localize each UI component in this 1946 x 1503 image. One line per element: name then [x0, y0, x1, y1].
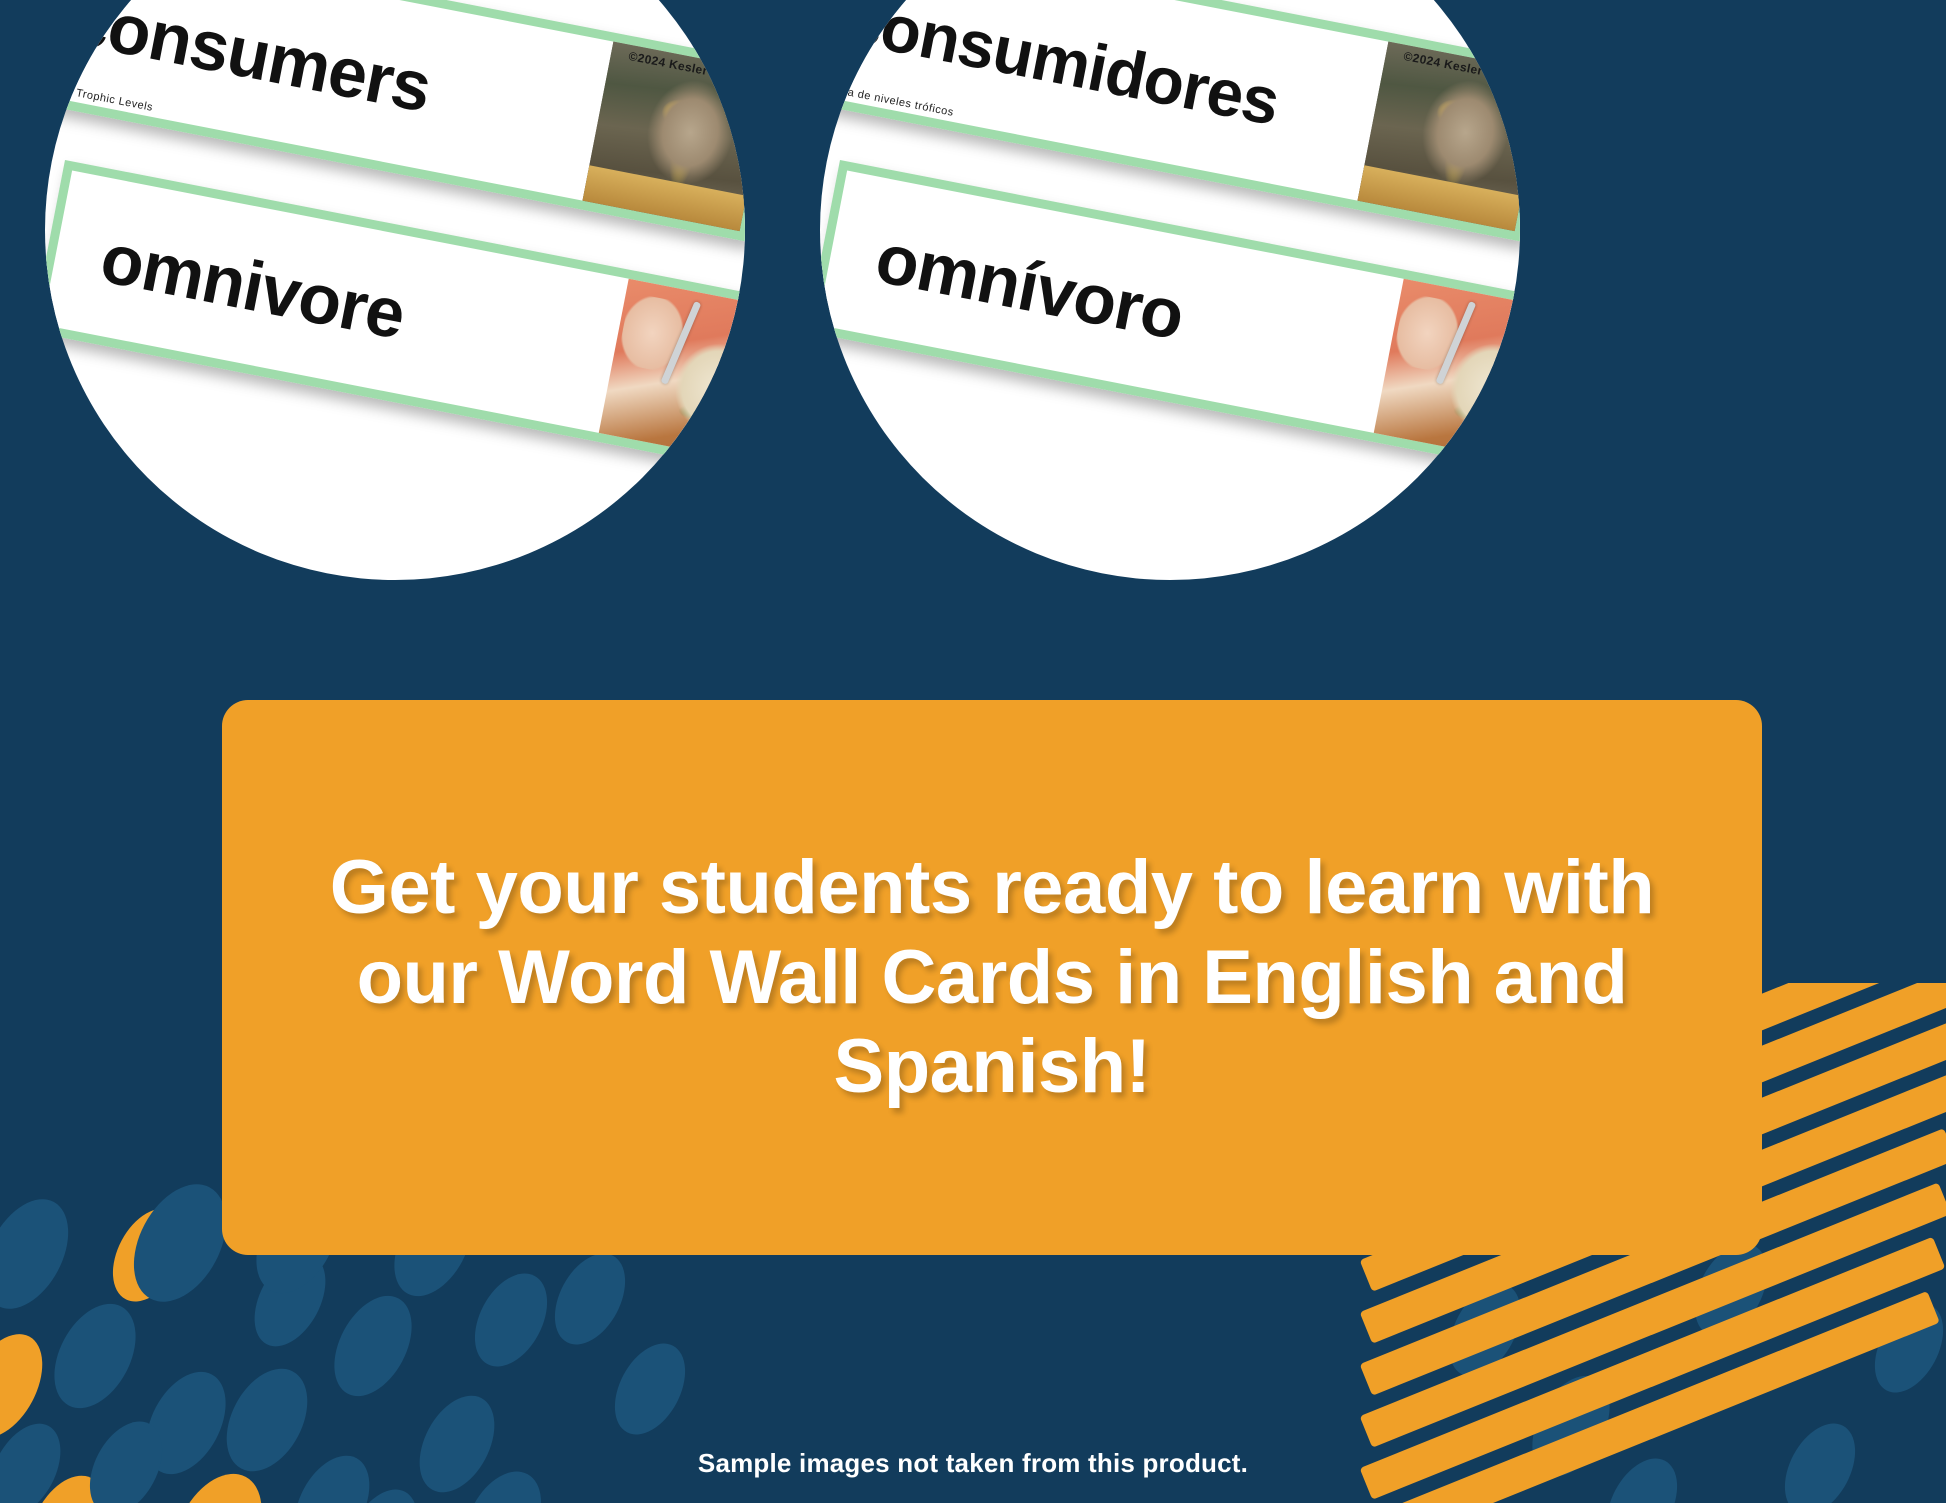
decor-dot [404, 1383, 509, 1503]
decor-dot [541, 1242, 640, 1357]
decor-dot [240, 1242, 340, 1358]
headline-banner: Get your students ready to learn with ou… [222, 700, 1762, 1255]
decor-dot [333, 1478, 432, 1503]
headline-text: Get your students ready to learn with ou… [222, 843, 1762, 1112]
decor-dot [0, 1321, 58, 1451]
word-label-omnivore: omnivore [45, 171, 629, 433]
footer-caption: Sample images not taken from this produc… [0, 1448, 1946, 1479]
bubble-english: ©2024 Kesler Science consumers Diagram T… [45, 0, 745, 580]
decor-dot [601, 1332, 700, 1447]
bubble-spanish: ©2024 Kesler Science consumidores Diagra… [820, 0, 1520, 580]
word-label-omnivoro: omnívoro [820, 171, 1404, 433]
poster-canvas: ©2024 Kesler Science consumers Diagram T… [0, 0, 1946, 1503]
decor-dot [460, 1261, 562, 1378]
decor-dot [38, 1290, 152, 1422]
decor-dot [319, 1283, 428, 1409]
decor-dot [98, 1196, 200, 1313]
decor-dot [0, 1185, 85, 1323]
